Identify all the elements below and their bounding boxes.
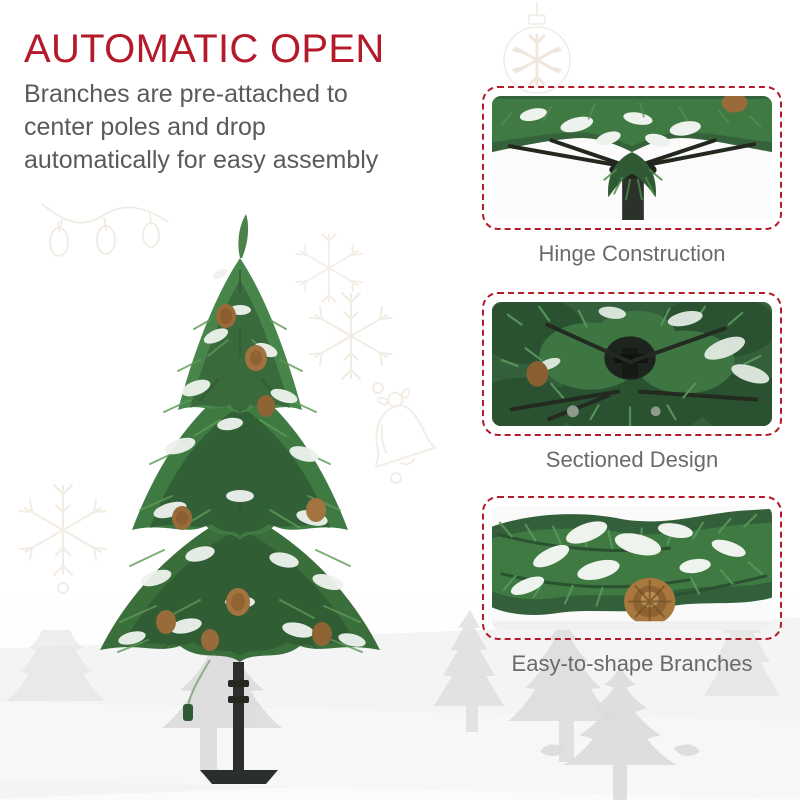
marketing-image: AUTOMATIC OPEN Branches are pre-attached… (0, 0, 800, 800)
panel-caption: Easy-to-shape Branches (482, 651, 782, 677)
section-connector-photo (492, 302, 772, 426)
page-title: AUTOMATIC OPEN (24, 26, 464, 72)
dashed-frame (482, 86, 782, 230)
dashed-frame (482, 292, 782, 436)
panel-caption: Hinge Construction (482, 241, 782, 267)
feature-panel-sectioned-design[interactable]: Sectioned Design (482, 292, 782, 473)
christmas-tree-photo (60, 210, 420, 790)
subtitle: Branches are pre-attached to center pole… (24, 78, 464, 177)
dashed-frame (482, 496, 782, 640)
copy-block: AUTOMATIC OPEN Branches are pre-attached… (24, 26, 464, 177)
pinecone (624, 578, 675, 625)
subtitle-line-2: center poles and drop (24, 113, 266, 141)
subtitle-line-1: Branches are pre-attached to (24, 80, 348, 108)
feature-panel-easy-to-shape-branches[interactable]: Easy-to-shape Branches (482, 496, 782, 677)
hinge-photo (492, 96, 772, 220)
branches-photo (492, 506, 772, 630)
subtitle-line-3: automatically for easy assembly (24, 146, 378, 174)
feature-panel-hinge-construction[interactable]: Hinge Construction (482, 86, 782, 267)
panel-caption: Sectioned Design (482, 447, 782, 473)
